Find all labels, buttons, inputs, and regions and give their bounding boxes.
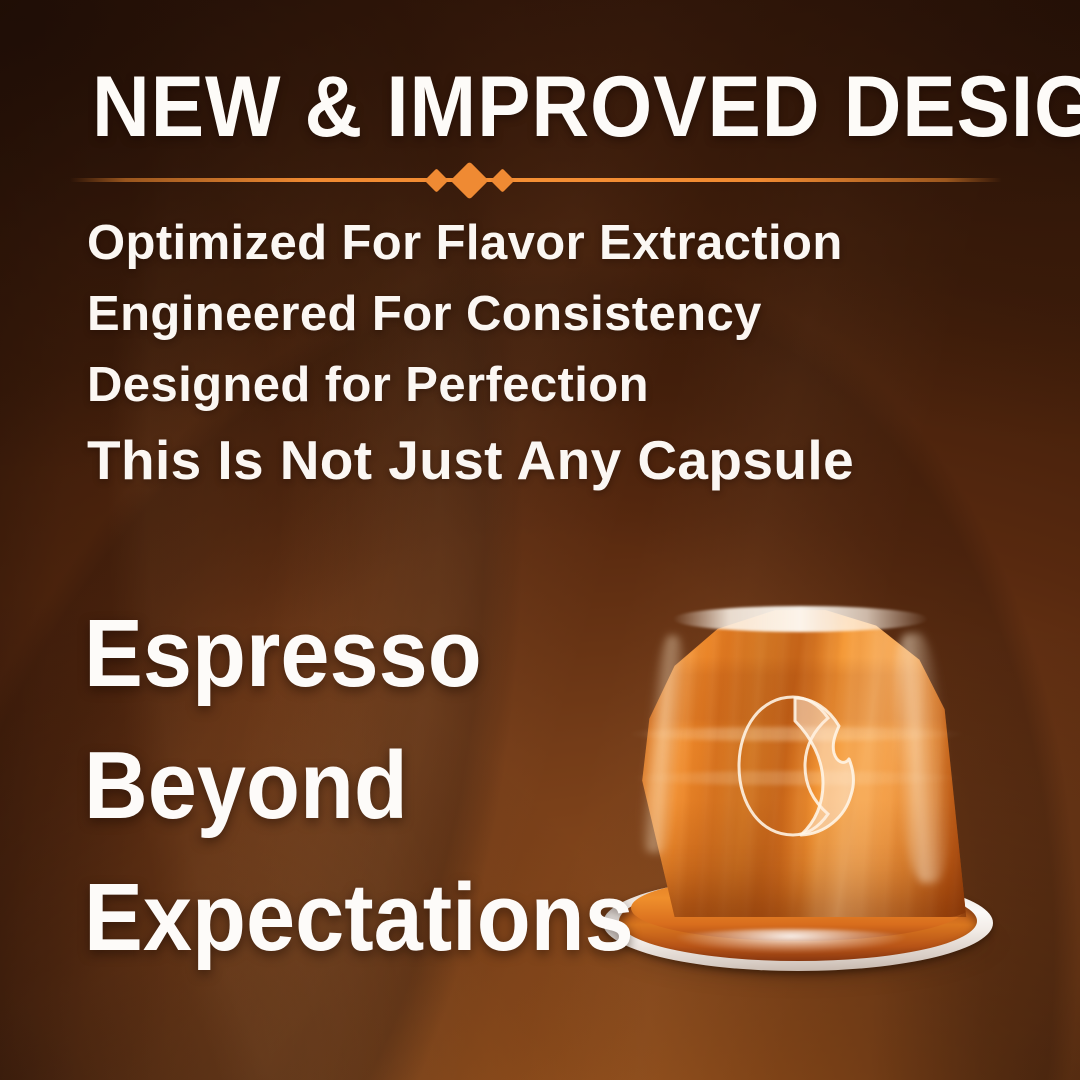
promo-poster: NEW & IMPROVED DESIGN Optimized For Flav… <box>0 0 1080 1080</box>
tagline-line: Espresso <box>84 588 634 720</box>
feature-item: Engineered For Consistency <box>87 279 967 350</box>
feature-item: Optimized For Flavor Extraction <box>87 208 967 279</box>
page-title: NEW & IMPROVED DESIGN <box>92 64 1080 150</box>
feature-item: Designed for Perfection <box>87 350 967 421</box>
tagline: Espresso Beyond Expectations <box>84 588 682 984</box>
divider-diamond-left <box>424 168 448 192</box>
feature-item-emphasis: This Is Not Just Any Capsule <box>87 421 967 499</box>
divider-ornament <box>70 163 1002 197</box>
tagline-line: Beyond <box>84 720 634 852</box>
tagline-line: Expectations <box>84 852 634 984</box>
divider-diamond-center <box>450 161 488 199</box>
divider-diamond-right <box>490 168 514 192</box>
divider-line <box>70 178 1002 182</box>
feature-list: Optimized For Flavor Extraction Engineer… <box>87 208 967 499</box>
